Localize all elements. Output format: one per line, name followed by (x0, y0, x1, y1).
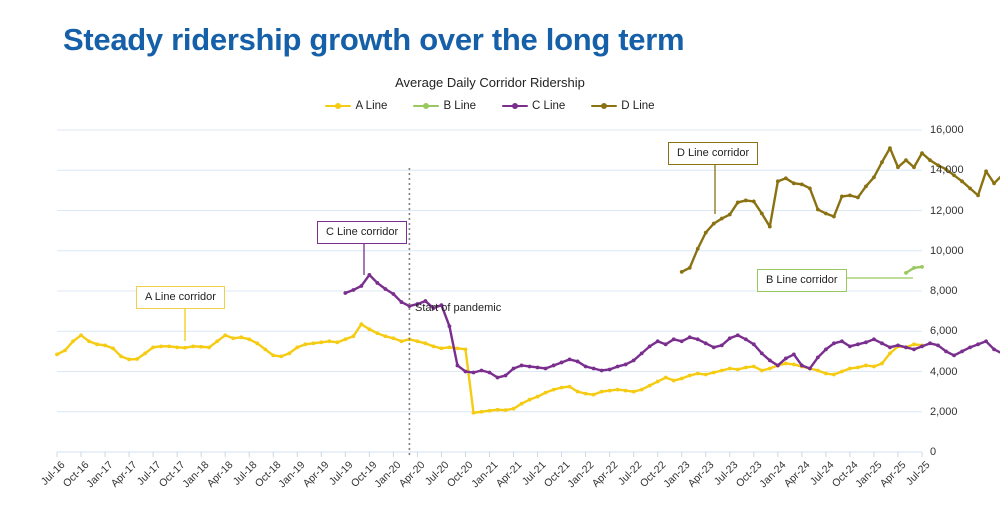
series-point (672, 379, 676, 383)
series-point (920, 344, 924, 348)
series-point (512, 367, 516, 371)
series-point (103, 343, 107, 347)
series-point (656, 380, 660, 384)
series-point (680, 339, 684, 343)
y-axis: 16,00014,00012,00010,0008,0006,0004,0002… (930, 130, 990, 452)
series-point (648, 384, 652, 388)
series-point (528, 398, 532, 402)
series-point (912, 347, 916, 351)
legend-swatch-icon (413, 101, 439, 111)
series-point (175, 345, 179, 349)
legend-item-label: A Line (355, 100, 387, 112)
series-point (728, 367, 732, 371)
series-point (616, 388, 620, 392)
series-point (520, 364, 524, 368)
series-point (760, 351, 764, 355)
series-point (904, 158, 908, 162)
series-point (584, 365, 588, 369)
y-tick-label: 14,000 (930, 164, 964, 176)
series-point (183, 346, 187, 350)
series-point (784, 357, 788, 361)
series-point (600, 369, 604, 373)
series-point (792, 352, 796, 356)
series-point (448, 345, 452, 349)
series-line-c-line (345, 275, 1000, 378)
series-point (664, 376, 668, 380)
annotation-a-line-corridor: A Line corridor (136, 286, 225, 309)
series-point (568, 385, 572, 389)
series-point (888, 345, 892, 349)
series-point (664, 342, 668, 346)
series-point (696, 372, 700, 376)
series-point (808, 186, 812, 190)
series-point (432, 344, 436, 348)
series-point (143, 351, 147, 355)
series-point (215, 339, 219, 343)
series-point (367, 273, 371, 277)
series-point (744, 199, 748, 203)
series-point (424, 341, 428, 345)
series-point (151, 345, 155, 349)
series-point (375, 331, 379, 335)
series-point (744, 366, 748, 370)
series-point (768, 367, 772, 371)
series-point (319, 340, 323, 344)
series-point (135, 357, 139, 361)
series-point (856, 366, 860, 370)
series-point (512, 407, 516, 411)
series-point (55, 352, 59, 356)
series-point (816, 356, 820, 360)
page-title: Steady ridership growth over the long te… (63, 22, 684, 58)
series-point (864, 340, 868, 344)
series-point (383, 287, 387, 291)
series-point (680, 377, 684, 381)
legend-swatch-icon (591, 101, 617, 111)
series-point (688, 374, 692, 378)
series-point (440, 346, 444, 350)
series-point (720, 217, 724, 221)
series-point (696, 247, 700, 251)
series-point (824, 212, 828, 216)
series-point (816, 369, 820, 373)
series-point (223, 333, 227, 337)
series-point (888, 351, 892, 355)
series-point (247, 337, 251, 341)
series-point (504, 408, 508, 412)
series-point (792, 181, 796, 185)
series-point (752, 200, 756, 204)
series-point (279, 355, 283, 359)
series-point (472, 371, 476, 375)
series-point (544, 391, 548, 395)
series-point (688, 266, 692, 270)
series-point (760, 212, 764, 216)
series-point (896, 343, 900, 347)
series-point (456, 346, 460, 350)
annotation-start-of-pandemic: Start of pandemic (415, 302, 501, 314)
series-point (776, 364, 780, 368)
series-point (840, 195, 844, 199)
series-point (255, 341, 259, 345)
series-point (768, 359, 772, 363)
series-point (640, 388, 644, 392)
series-point (472, 411, 476, 415)
series-point (632, 359, 636, 363)
series-point (496, 408, 500, 412)
series-point (199, 345, 203, 349)
series-point (824, 347, 828, 351)
series-point (207, 345, 211, 349)
series-point (800, 182, 804, 186)
series-point (648, 344, 652, 348)
series-point (704, 231, 708, 235)
series-point (848, 344, 852, 348)
series-point (552, 364, 556, 368)
series-point (560, 386, 564, 390)
series-point (752, 365, 756, 369)
series-point (864, 184, 868, 188)
series-point (808, 367, 812, 371)
series-point (536, 366, 540, 370)
series-point (672, 337, 676, 341)
series-point (159, 344, 163, 348)
series-point (456, 364, 460, 368)
series-point (544, 367, 548, 371)
series-point (912, 342, 916, 346)
series-point (800, 364, 804, 368)
series-point (896, 165, 900, 169)
series-point (712, 345, 716, 349)
series-point (816, 208, 820, 212)
series-point (111, 346, 115, 350)
series-point (624, 363, 628, 367)
series-point (480, 410, 484, 414)
series-point (464, 370, 468, 374)
series-point (912, 165, 916, 169)
series-point (696, 337, 700, 341)
series-point (391, 336, 395, 340)
series-point (824, 372, 828, 376)
series-point (872, 365, 876, 369)
series-point (87, 339, 91, 343)
series-point (231, 336, 235, 340)
series-point (343, 291, 347, 295)
series-point (832, 341, 836, 345)
series-point (367, 327, 371, 331)
series-point (327, 339, 331, 343)
legend-item-c-line[interactable]: C Line (502, 100, 565, 112)
series-point (191, 344, 195, 348)
series-point (784, 176, 788, 180)
series-point (736, 333, 740, 337)
y-tick-label: 0 (930, 446, 936, 458)
series-point (904, 345, 908, 349)
series-point (127, 358, 131, 362)
series-point (119, 355, 123, 359)
series-point (864, 364, 868, 368)
series-point (528, 365, 532, 369)
series-point (624, 389, 628, 393)
series-line-a-line (57, 324, 922, 413)
y-tick-label: 12,000 (930, 205, 964, 217)
legend-item-a-line[interactable]: A Line (325, 100, 387, 112)
series-point (792, 363, 796, 367)
series-point (335, 340, 339, 344)
series-point (375, 281, 379, 285)
series-point (71, 339, 75, 343)
series-point (768, 225, 772, 229)
series-point (63, 348, 67, 352)
series-point (592, 367, 596, 371)
series-point (592, 393, 596, 397)
series-point (640, 351, 644, 355)
series-point (856, 196, 860, 200)
series-point (167, 344, 171, 348)
series-point (608, 389, 612, 393)
series-point (752, 342, 756, 346)
series-point (832, 373, 836, 377)
legend-item-label: D Line (621, 100, 654, 112)
series-point (271, 354, 275, 358)
legend-swatch-icon (502, 101, 528, 111)
series-point (400, 300, 404, 304)
series-point (576, 360, 580, 364)
series-point (383, 334, 387, 338)
series-point (584, 392, 588, 396)
annotation-c-line-corridor: C Line corridor (317, 221, 407, 244)
series-point (416, 339, 420, 343)
series-point (688, 335, 692, 339)
series-point (744, 337, 748, 341)
chart-legend: A LineB LineC LineD Line (0, 100, 1000, 112)
series-point (760, 369, 764, 373)
annotation-b-line-corridor: B Line corridor (757, 269, 847, 292)
series-point (576, 390, 580, 394)
series-point (351, 288, 355, 292)
series-point (680, 270, 684, 274)
series-point (736, 368, 740, 372)
chart-subtitle: Average Daily Corridor Ridership (0, 75, 1000, 90)
series-point (880, 341, 884, 345)
series-point (712, 222, 716, 226)
series-point (359, 322, 363, 326)
series-point (656, 339, 660, 343)
series-point (295, 345, 299, 349)
series-point (488, 371, 492, 375)
y-tick-label: 16,000 (930, 124, 964, 136)
y-tick-label: 10,000 (930, 245, 964, 257)
series-point (992, 181, 996, 185)
series-point (736, 201, 740, 205)
series-point (488, 409, 492, 413)
legend-item-label: B Line (443, 100, 476, 112)
series-point (632, 390, 636, 394)
series-point (728, 213, 732, 217)
series-point (720, 369, 724, 373)
y-tick-label: 2,000 (930, 406, 958, 418)
legend-item-d-line[interactable]: D Line (591, 100, 654, 112)
series-point (239, 335, 243, 339)
series-point (263, 347, 267, 351)
series-point (776, 179, 780, 183)
series-point (287, 351, 291, 355)
legend-swatch-icon (325, 101, 351, 111)
series-point (504, 374, 508, 378)
y-tick-label: 4,000 (930, 366, 958, 378)
annotation-d-line-corridor: D Line corridor (668, 142, 758, 165)
series-point (704, 373, 708, 377)
series-point (904, 271, 908, 275)
series-point (608, 368, 612, 372)
series-point (311, 341, 315, 345)
series-point (872, 337, 876, 341)
series-point (728, 336, 732, 340)
series-point (496, 376, 500, 380)
series-point (464, 347, 468, 351)
series-point (880, 362, 884, 366)
series-point (832, 215, 836, 219)
series-point (400, 339, 404, 343)
series-point (480, 369, 484, 373)
series-point (720, 343, 724, 347)
series-point (872, 175, 876, 179)
series-point (888, 146, 892, 150)
series-point (616, 365, 620, 369)
series-point (351, 334, 355, 338)
series-point (848, 367, 852, 371)
series-point (552, 388, 556, 392)
series-point (448, 324, 452, 328)
series-point (840, 339, 844, 343)
series-point (712, 371, 716, 375)
y-tick-label: 6,000 (930, 325, 958, 337)
x-axis: Jul-16Oct-16Jan-17Apr-17Jul-17Oct-17Jan-… (57, 455, 922, 511)
series-point (95, 342, 99, 346)
series-point (920, 265, 924, 269)
series-point (568, 358, 572, 362)
series-point (704, 341, 708, 345)
series-point (520, 402, 524, 406)
series-point (920, 151, 924, 155)
series-point (856, 342, 860, 346)
series-point (391, 292, 395, 296)
series-point (560, 361, 564, 365)
series-point (600, 390, 604, 394)
series-point (536, 395, 540, 399)
series-point (880, 160, 884, 164)
y-tick-label: 8,000 (930, 285, 958, 297)
series-point (840, 370, 844, 374)
series-point (359, 284, 363, 288)
legend-item-b-line[interactable]: B Line (413, 100, 476, 112)
series-point (343, 337, 347, 341)
series-point (79, 333, 83, 337)
series-point (303, 342, 307, 346)
series-point (848, 194, 852, 198)
series-point (992, 347, 996, 351)
legend-item-label: C Line (532, 100, 565, 112)
series-point (784, 362, 788, 366)
series-point (912, 266, 916, 270)
